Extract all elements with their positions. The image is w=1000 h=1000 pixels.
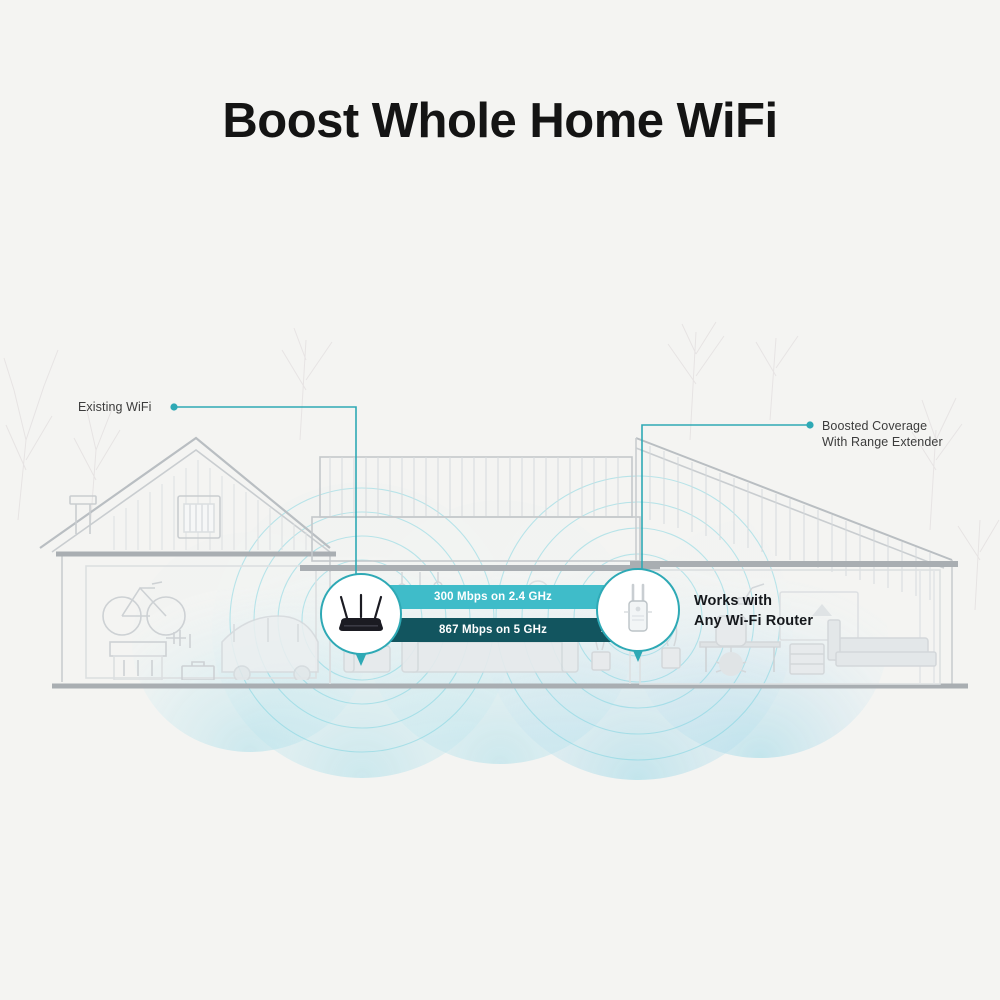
wifi-router-icon [332,592,390,636]
callout-boosted-coverage-line1: Boosted Coverage [822,418,943,434]
speed-bar-2-4ghz-label: 300 Mbps on 2.4 GHz [386,591,601,603]
leader-dot-existing-wifi [170,403,177,410]
wifi-range-extender-icon [618,582,658,638]
callout-existing-wifi: Existing WiFi [78,399,152,415]
speed-bar-5ghz-label: 867 Mbps on 5 GHz [386,624,601,636]
speed-bar-2-4ghz: ‹‹‹ 300 Mbps on 2.4 GHz ››› [362,585,624,609]
callout-existing-wifi-label: Existing WiFi [78,399,152,415]
page-title: Boost Whole Home WiFi [0,96,1000,147]
callout-boosted-coverage-line2: With Range Extender [822,434,943,450]
nightstand-icon [790,644,824,674]
router-bubble [320,573,402,655]
speed-bar-5ghz: ‹‹‹ 867 Mbps on 5 GHz ››› [362,618,624,642]
compatibility-note: Works with Any Wi-Fi Router [694,592,813,631]
house-cutaway-illustration [0,320,1000,740]
attic-window [178,496,220,538]
compatibility-line1: Works with [694,592,813,612]
callout-boosted-coverage: Boosted Coverage With Range Extender [822,418,943,450]
compatibility-line2: Any Wi-Fi Router [694,612,813,632]
infographic-canvas: Boost Whole Home WiFi [0,0,1000,1000]
range-extender-bubble [596,568,680,652]
leader-dot-boosted-coverage [806,421,813,428]
